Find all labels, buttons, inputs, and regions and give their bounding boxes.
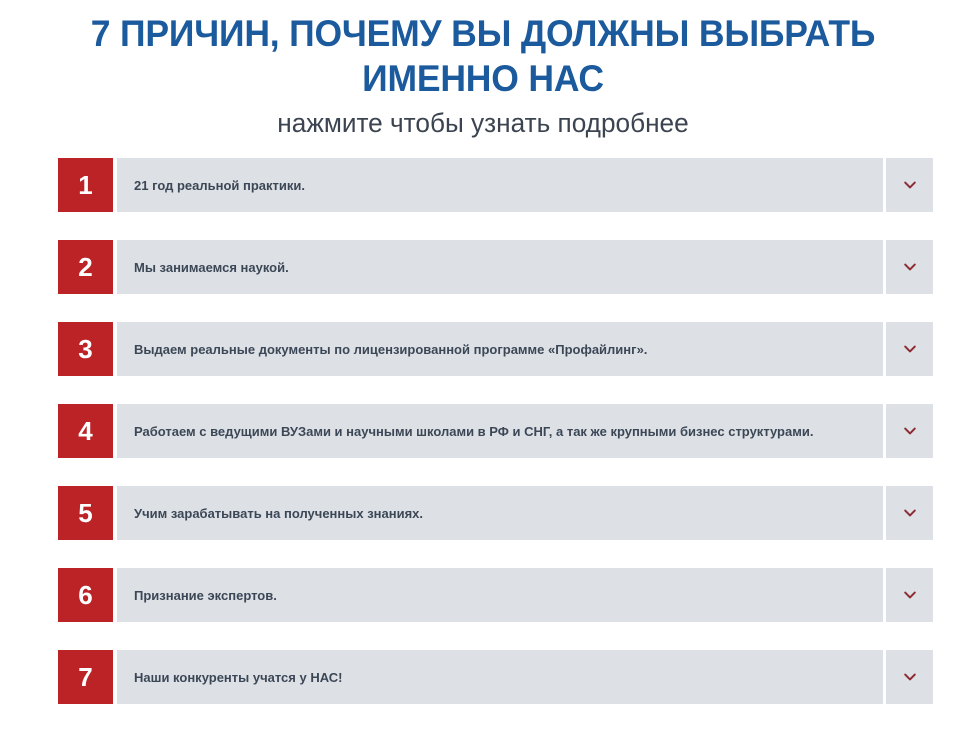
- accordion-body-6[interactable]: Признание экспертов.: [117, 568, 883, 622]
- accordion-toggle-1[interactable]: [886, 158, 933, 212]
- accordion-body-2[interactable]: Мы занимаемся наукой.: [117, 240, 883, 294]
- chevron-down-icon: [903, 178, 917, 192]
- accordion-item-2[interactable]: 2 Мы занимаемся наукой.: [58, 240, 933, 294]
- chevron-down-icon: [903, 424, 917, 438]
- accordion-toggle-5[interactable]: [886, 486, 933, 540]
- page-subtitle: нажмите чтобы узнать подробнее: [14, 107, 951, 139]
- accordion-item-7[interactable]: 7 Наши конкуренты учатся у НАС!: [58, 650, 933, 704]
- chevron-down-icon: [903, 670, 917, 684]
- accordion-toggle-4[interactable]: [886, 404, 933, 458]
- accordion-item-4[interactable]: 4 Работаем с ведущими ВУЗами и научными …: [58, 404, 933, 458]
- accordion-label-7: Наши конкуренты учатся у НАС!: [117, 669, 355, 686]
- accordion-label-1: 21 год реальной практики.: [117, 177, 317, 194]
- accordion-body-7[interactable]: Наши конкуренты учатся у НАС!: [117, 650, 883, 704]
- accordion-label-5: Учим зарабатывать на полученных знаниях.: [117, 505, 435, 522]
- chevron-down-icon: [903, 260, 917, 274]
- accordion-number-2: 2: [58, 240, 113, 294]
- accordion-label-6: Признание экспертов.: [117, 587, 289, 604]
- accordion-number-5: 5: [58, 486, 113, 540]
- accordion-body-4[interactable]: Работаем с ведущими ВУЗами и научными шк…: [117, 404, 883, 458]
- accordion-item-1[interactable]: 1 21 год реальной практики.: [58, 158, 933, 212]
- page-root: 7 ПРИЧИН, ПОЧЕМУ ВЫ ДОЛЖНЫ ВЫБРАТЬ ИМЕНН…: [0, 0, 966, 732]
- accordion-label-3: Выдаем реальные документы по лицензирова…: [117, 341, 659, 358]
- accordion-toggle-3[interactable]: [886, 322, 933, 376]
- chevron-down-icon: [903, 588, 917, 602]
- accordion-toggle-2[interactable]: [886, 240, 933, 294]
- accordion-label-2: Мы занимаемся наукой.: [117, 259, 301, 276]
- accordion-number-6: 6: [58, 568, 113, 622]
- accordion-toggle-7[interactable]: [886, 650, 933, 704]
- accordion-number-4: 4: [58, 404, 113, 458]
- page-title: 7 ПРИЧИН, ПОЧЕМУ ВЫ ДОЛЖНЫ ВЫБРАТЬ ИМЕНН…: [19, 11, 946, 101]
- accordion-item-5[interactable]: 5 Учим зарабатывать на полученных знания…: [58, 486, 933, 540]
- page-header: 7 ПРИЧИН, ПОЧЕМУ ВЫ ДОЛЖНЫ ВЫБРАТЬ ИМЕНН…: [0, 0, 966, 139]
- accordion-number-7: 7: [58, 650, 113, 704]
- accordion-item-3[interactable]: 3 Выдаем реальные документы по лицензиро…: [58, 322, 933, 376]
- reasons-accordion: 1 21 год реальной практики. 2 Мы занимае…: [58, 158, 933, 704]
- accordion-body-1[interactable]: 21 год реальной практики.: [117, 158, 883, 212]
- chevron-down-icon: [903, 342, 917, 356]
- accordion-body-5[interactable]: Учим зарабатывать на полученных знаниях.: [117, 486, 883, 540]
- accordion-number-1: 1: [58, 158, 113, 212]
- accordion-toggle-6[interactable]: [886, 568, 933, 622]
- chevron-down-icon: [903, 506, 917, 520]
- accordion-label-4: Работаем с ведущими ВУЗами и научными шк…: [117, 423, 825, 440]
- accordion-item-6[interactable]: 6 Признание экспертов.: [58, 568, 933, 622]
- accordion-body-3[interactable]: Выдаем реальные документы по лицензирова…: [117, 322, 883, 376]
- accordion-number-3: 3: [58, 322, 113, 376]
